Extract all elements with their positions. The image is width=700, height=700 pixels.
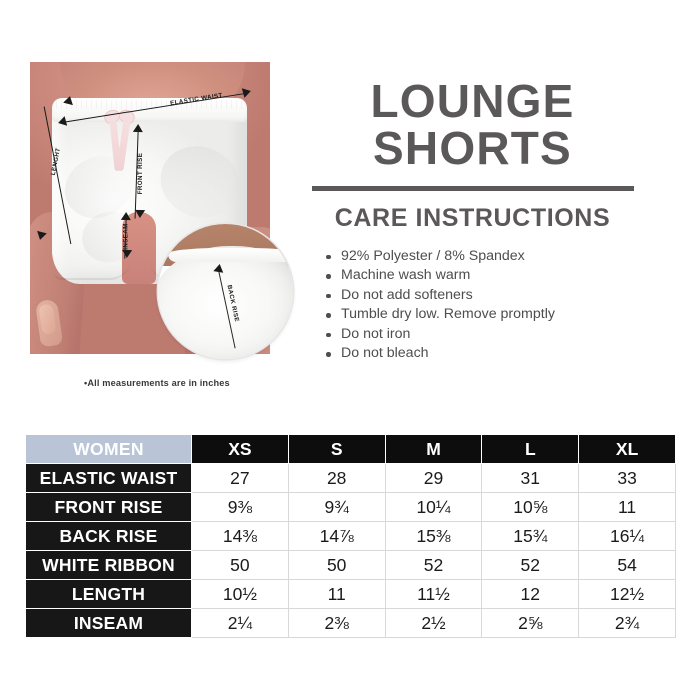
cell-back-rise-xl: 16¼ bbox=[579, 522, 676, 551]
cell-inseam-m: 2½ bbox=[385, 609, 482, 638]
header-size-xs: XS bbox=[192, 435, 289, 464]
table-header-row: WOMEN XS S M L XL bbox=[26, 435, 676, 464]
back-view-inset: BACK RISE bbox=[158, 224, 293, 359]
cell-white-ribbon-xs: 50 bbox=[192, 551, 289, 580]
row-label-white-ribbon: WHITE RIBBON bbox=[26, 551, 192, 580]
info-panel: LOUNGE SHORTS CARE INSTRUCTIONS 92% Poly… bbox=[300, 78, 645, 364]
cell-elastic-waist-m: 29 bbox=[385, 464, 482, 493]
cell-inseam-xl: 2¾ bbox=[579, 609, 676, 638]
top-section: ELASTIC WAIST LENGHT FRONT RISE INSEAM bbox=[0, 0, 700, 412]
cell-white-ribbon-s: 50 bbox=[288, 551, 385, 580]
cell-white-ribbon-xl: 54 bbox=[579, 551, 676, 580]
care-item: Do not bleach bbox=[326, 344, 645, 364]
cell-back-rise-m: 15⅜ bbox=[385, 522, 482, 551]
cell-back-rise-l: 15¾ bbox=[482, 522, 579, 551]
inset-waistband bbox=[168, 248, 293, 262]
product-photo: ELASTIC WAIST LENGHT FRONT RISE INSEAM bbox=[30, 62, 270, 354]
front-rise-annotation-label: FRONT RISE bbox=[137, 153, 144, 194]
care-instructions-heading: CARE INSTRUCTIONS bbox=[300, 204, 645, 233]
cell-white-ribbon-l: 52 bbox=[482, 551, 579, 580]
cell-white-ribbon-m: 52 bbox=[385, 551, 482, 580]
measurement-unit-footnote: •All measurements are in inches bbox=[84, 378, 230, 388]
cell-length-xs: 10½ bbox=[192, 580, 289, 609]
cell-front-rise-xs: 9⅜ bbox=[192, 493, 289, 522]
page-title: LOUNGE SHORTS bbox=[300, 78, 645, 172]
table-row: BACK RISE 14⅜ 14⅞ 15⅜ 15¾ 16¼ bbox=[26, 522, 676, 551]
cell-elastic-waist-s: 28 bbox=[288, 464, 385, 493]
cell-inseam-xs: 2¼ bbox=[192, 609, 289, 638]
cell-length-xl: 12½ bbox=[579, 580, 676, 609]
cell-length-l: 12 bbox=[482, 580, 579, 609]
table-row: LENGTH 10½ 11 11½ 12 12½ bbox=[26, 580, 676, 609]
table-row: ELASTIC WAIST 27 28 29 31 33 bbox=[26, 464, 676, 493]
row-label-elastic-waist: ELASTIC WAIST bbox=[26, 464, 192, 493]
title-line-shorts: SHORTS bbox=[300, 125, 645, 172]
care-item: Tumble dry low. Remove promptly bbox=[326, 305, 645, 325]
care-item: Do not add softeners bbox=[326, 286, 645, 306]
cell-elastic-waist-xl: 33 bbox=[579, 464, 676, 493]
table-row: FRONT RISE 9⅜ 9¾ 10¼ 10⅝ 11 bbox=[26, 493, 676, 522]
cell-elastic-waist-xs: 27 bbox=[192, 464, 289, 493]
cell-front-rise-l: 10⅝ bbox=[482, 493, 579, 522]
front-rise-arrow-bottom bbox=[135, 210, 145, 218]
care-item: 92% Polyester / 8% Spandex bbox=[326, 247, 645, 267]
drawstring-bow bbox=[108, 110, 134, 172]
row-label-inseam: INSEAM bbox=[26, 609, 192, 638]
back-rise-arrow-top bbox=[213, 263, 224, 273]
cell-front-rise-m: 10¼ bbox=[385, 493, 482, 522]
cell-length-s: 11 bbox=[288, 580, 385, 609]
cell-back-rise-s: 14⅞ bbox=[288, 522, 385, 551]
title-line-lounge: LOUNGE bbox=[300, 78, 645, 125]
care-item: Do not iron bbox=[326, 325, 645, 345]
size-chart-table: WOMEN XS S M L XL ELASTIC WAIST 27 28 29… bbox=[25, 434, 676, 638]
table-row: INSEAM 2¼ 2⅜ 2½ 2⅝ 2¾ bbox=[26, 609, 676, 638]
cell-elastic-waist-l: 31 bbox=[482, 464, 579, 493]
cell-inseam-s: 2⅜ bbox=[288, 609, 385, 638]
care-item: Machine wash warm bbox=[326, 266, 645, 286]
header-size-s: S bbox=[288, 435, 385, 464]
cell-front-rise-xl: 11 bbox=[579, 493, 676, 522]
header-size-xl: XL bbox=[579, 435, 676, 464]
cell-length-m: 11½ bbox=[385, 580, 482, 609]
cell-inseam-l: 2⅝ bbox=[482, 609, 579, 638]
inseam-annotation-label: INSEAM bbox=[123, 223, 130, 249]
shorts-hem-left bbox=[54, 258, 130, 280]
inseam-arrow-top bbox=[121, 212, 131, 220]
table-row: WHITE RIBBON 50 50 52 52 54 bbox=[26, 551, 676, 580]
row-label-length: LENGTH bbox=[26, 580, 192, 609]
row-label-front-rise: FRONT RISE bbox=[26, 493, 192, 522]
header-size-m: M bbox=[385, 435, 482, 464]
row-label-back-rise: BACK RISE bbox=[26, 522, 192, 551]
cell-front-rise-s: 9¾ bbox=[288, 493, 385, 522]
care-instructions-list: 92% Polyester / 8% Spandex Machine wash … bbox=[326, 247, 645, 364]
cell-back-rise-xs: 14⅜ bbox=[192, 522, 289, 551]
front-rise-arrow-top bbox=[133, 124, 143, 132]
title-divider bbox=[312, 186, 634, 191]
header-women: WOMEN bbox=[26, 435, 192, 464]
header-size-l: L bbox=[482, 435, 579, 464]
inseam-arrow-bottom bbox=[122, 250, 132, 258]
